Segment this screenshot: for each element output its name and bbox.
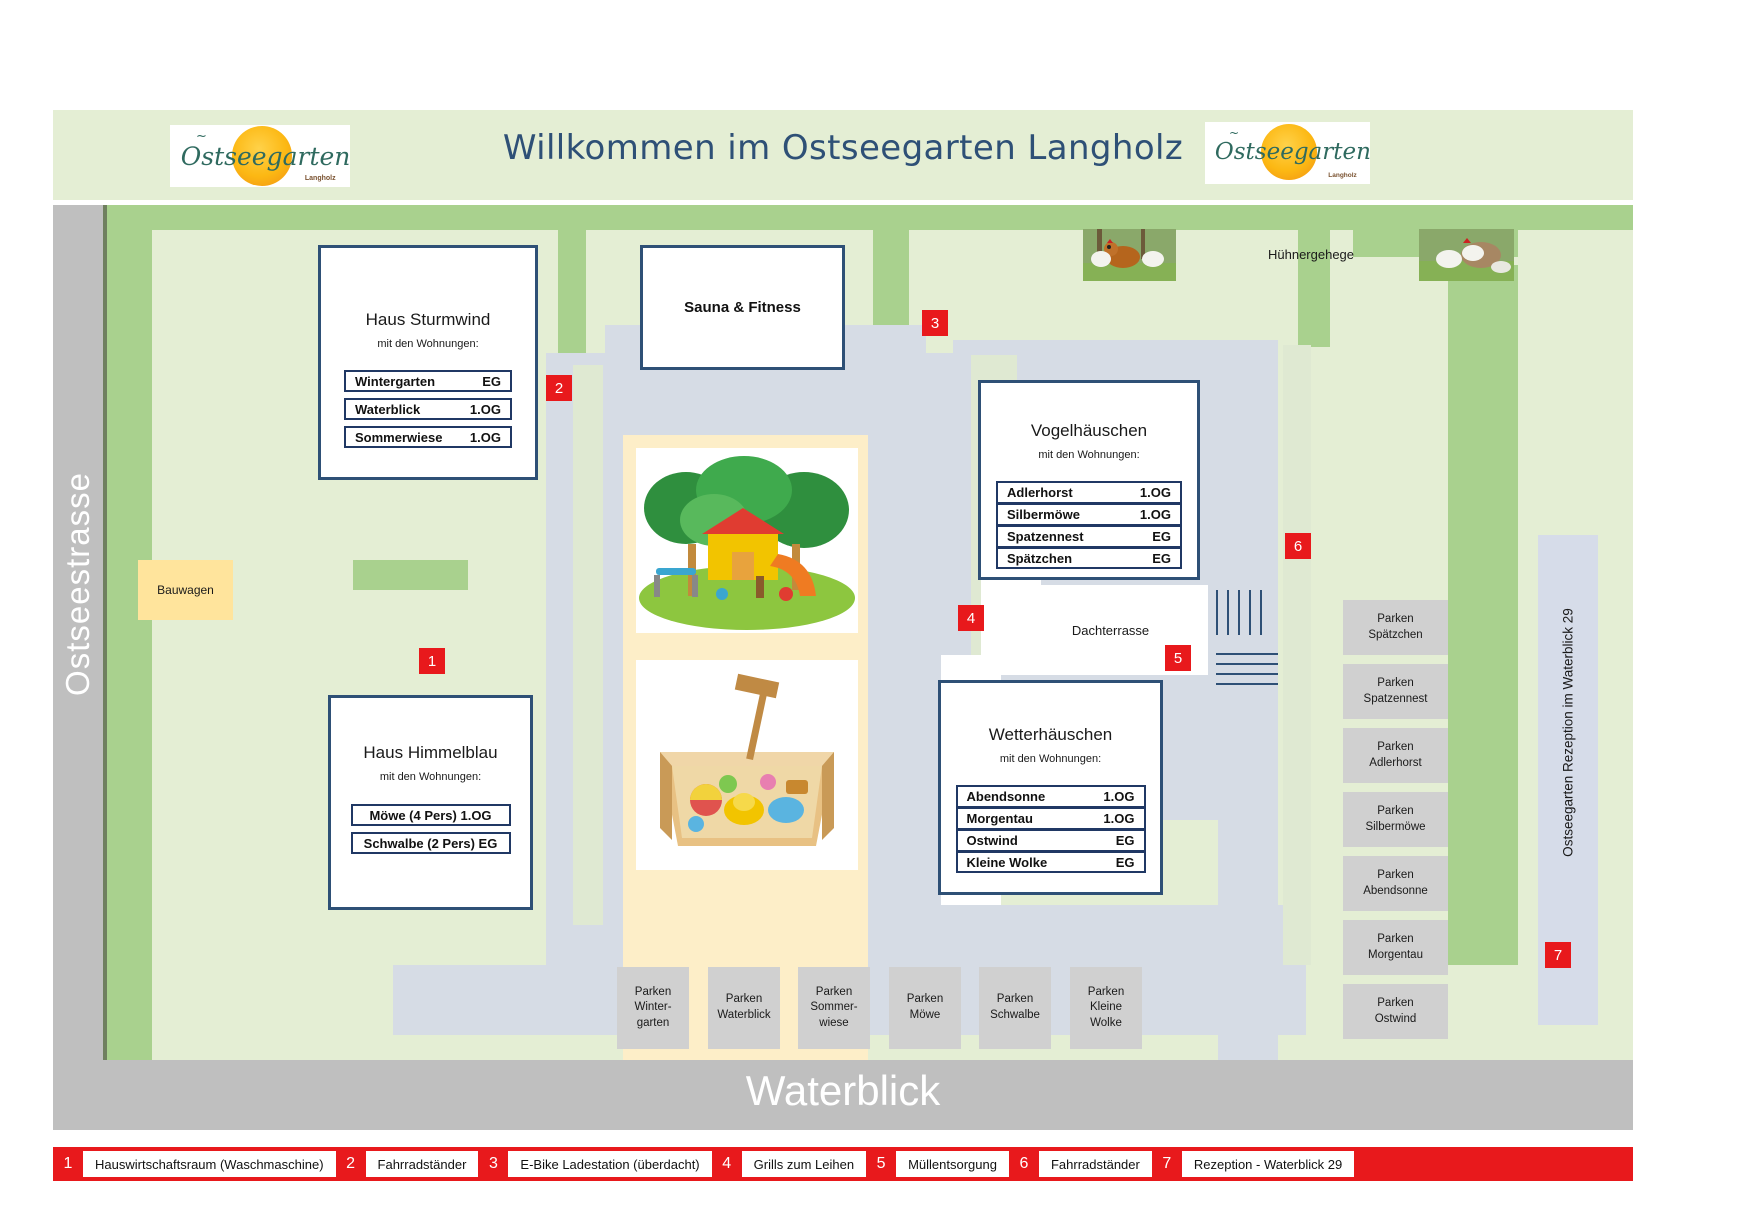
site-map: Ostseestrasse Haus Sturmwind [53,205,1633,1130]
legend-item-1[interactable]: Hauswirtschaftsraum (Waschmaschine) [83,1151,336,1177]
logo-right: ~ Ostseegarten Langholz [1205,122,1370,184]
apartment-floor: EG [482,374,501,389]
chicken-photo-left [1083,229,1176,281]
building-vogelhaeuschen[interactable]: Vogelhäuschen mit den Wohnungen: Adlerho… [978,380,1200,580]
apartment-row[interactable]: Morgentau 1.OG [956,807,1146,829]
site-map-page: ~ Ostseegarten Langholz Willkommen im Os… [0,0,1740,1231]
apartment-name: Spatzennest [1007,529,1084,544]
street-edge-line [103,205,107,1130]
parking-cell[interactable]: Parken Sommer- wiese [798,967,870,1049]
parking-cell[interactable]: Parken Spätzchen [1343,600,1448,655]
map-marker-7[interactable]: 7 [1545,942,1571,968]
legend-item-5[interactable]: Müllentsorgung [896,1151,1009,1177]
apartment-floor: 1.OG [1103,789,1134,804]
building-title: Haus Himmelblau [331,743,530,763]
chicken-photo-icon [1083,229,1176,281]
apartment-name: Sommerwiese [355,430,442,445]
building-sauna-fitness[interactable]: Sauna & Fitness [640,245,845,370]
apartment-floor: EG [1116,855,1135,870]
map-marker-2[interactable]: 2 [546,375,572,401]
chicken-photo-icon [1419,229,1514,281]
logo-bird-icon: ~ [1229,126,1239,140]
parking-cell[interactable]: Parken Abendsonne [1343,856,1448,911]
apartment-name: Morgentau [967,811,1033,826]
map-marker-5[interactable]: 5 [1165,645,1191,671]
apartment-row[interactable]: Ostwind EG [956,829,1146,851]
reception-strip-label: Ostseegarten Rezeption im Waterblick 29 [1561,533,1576,933]
logo-subtitle: Langholz [1328,172,1357,179]
hedge-strip [873,227,909,332]
apartment-name: Adlerhorst [1007,485,1073,500]
hedge-strip [1448,265,1518,965]
chicken-area-label: Hühnergehege [1268,247,1354,262]
page-header: ~ Ostseegarten Langholz Willkommen im Os… [53,110,1633,200]
legend-item-2[interactable]: Fahrradständer [366,1151,479,1177]
street-ostseestrasse-label: Ostseestrasse [59,349,97,819]
apartment-name: Schwalbe (2 Pers) EG [364,836,498,851]
building-haus-sturmwind[interactable]: Haus Sturmwind mit den Wohnungen: Winter… [318,245,538,480]
parking-cell[interactable]: Parken Adlerhorst [1343,728,1448,783]
building-title: Sauna & Fitness [643,248,842,367]
parking-cell[interactable]: Parken Kleine Wolke [1070,967,1142,1049]
playground-photo [636,448,858,633]
legend-item-4[interactable]: Grills zum Leihen [742,1151,866,1177]
apartment-floor: 1.OG [470,402,501,417]
apartment-row[interactable]: Sommerwiese 1.OG [344,426,512,448]
building-subtitle: mit den Wohnungen: [981,449,1197,461]
logo-left: ~ Ostseegarten Langholz [170,125,350,187]
apartment-row[interactable]: Kleine Wolke EG [956,851,1146,873]
apartment-row[interactable]: Wintergarten EG [344,370,512,392]
bauwagen-block: Bauwagen [138,560,233,620]
apartment-name: Kleine Wolke [967,855,1048,870]
street-waterblick-label: Waterblick [53,1067,1633,1115]
hedge-strip [558,227,586,362]
apartment-name: Möwe (4 Pers) 1.OG [369,808,491,823]
apartment-name: Spätzchen [1007,551,1072,566]
chicken-photo-right [1419,229,1514,281]
parking-cell[interactable]: Parken Spatzennest [1343,664,1448,719]
apartment-floor: 1.OG [1140,485,1171,500]
apartment-name: Waterblick [355,402,420,417]
fence-icon [1216,590,1276,645]
building-subtitle: mit den Wohnungen: [321,338,535,350]
apartment-name: Ostwind [967,833,1018,848]
legend-number-2: 2 [336,1147,366,1181]
sandbox-illustration-icon [636,660,858,870]
playground-illustration-icon [636,448,858,633]
apartment-name: Wintergarten [355,374,435,389]
legend-item-7[interactable]: Rezeption - Waterblick 29 [1182,1151,1354,1177]
fence-icon [1216,653,1278,693]
planting-strip [573,365,603,925]
page-title: Willkommen im Ostseegarten Langholz [383,128,1303,168]
apartment-row[interactable]: Möwe (4 Pers) 1.OG [351,804,511,826]
apartment-row[interactable]: Spatzennest EG [996,525,1182,547]
apartment-floor: 1.OG [470,430,501,445]
apartment-name: Abendsonne [967,789,1046,804]
parking-cell[interactable]: Parken Silbermöwe [1343,792,1448,847]
parking-cell[interactable]: Parken Winter- garten [617,967,689,1049]
building-title: Wetterhäuschen [941,725,1160,745]
apartment-row[interactable]: Schwalbe (2 Pers) EG [351,832,511,854]
building-wetterhaeuschen[interactable]: Wetterhäuschen mit den Wohnungen: Abends… [938,680,1163,895]
legend-number-4: 4 [712,1147,742,1181]
parking-cell[interactable]: Parken Möwe [889,967,961,1049]
legend-number-1: 1 [53,1147,83,1181]
building-subtitle: mit den Wohnungen: [331,771,530,783]
logo-wordmark: Ostseegarten [1215,139,1370,165]
parking-cell[interactable]: Parken Waterblick [708,967,780,1049]
legend-bar: 1 Hauswirtschaftsraum (Waschmaschine) 2 … [53,1147,1633,1181]
apartment-name: Silbermöwe [1007,507,1080,522]
legend-number-6: 6 [1009,1147,1039,1181]
building-haus-himmelblau[interactable]: Haus Himmelblau mit den Wohnungen: Möwe … [328,695,533,910]
legend-number-5: 5 [866,1147,896,1181]
sandbox-photo [636,660,858,870]
map-marker-4[interactable]: 4 [958,605,984,631]
logo-wordmark: Ostseegarten [181,142,350,171]
apartment-row[interactable]: Abendsonne 1.OG [956,785,1146,807]
hedge-strip [1298,227,1330,347]
parking-cell[interactable]: Parken Ostwind [1343,984,1448,1039]
legend-number-3: 3 [478,1147,508,1181]
apartment-floor: EG [1152,529,1171,544]
map-marker-1[interactable]: 1 [419,648,445,674]
legend-number-7: 7 [1152,1147,1182,1181]
parking-cell[interactable]: Parken Morgentau [1343,920,1448,975]
planting-strip [1283,345,1311,965]
logo-subtitle: Langholz [305,175,336,182]
driveway-paving [393,965,573,1035]
hedge-strip [353,560,468,590]
parking-cell[interactable]: Parken Schwalbe [979,967,1051,1049]
legend-item-6[interactable]: Fahrradständer [1039,1151,1152,1177]
apartment-floor: 1.OG [1103,811,1134,826]
apartment-row[interactable]: Adlerhorst 1.OG [996,481,1182,503]
street-waterblick: Waterblick [53,1060,1633,1130]
apartment-floor: 1.OG [1140,507,1171,522]
apartment-row[interactable]: Spätzchen EG [996,547,1182,569]
apartment-floor: EG [1152,551,1171,566]
street-ostseestrasse: Ostseestrasse [53,205,103,1130]
map-marker-3[interactable]: 3 [922,310,948,336]
building-subtitle: mit den Wohnungen: [941,753,1160,765]
apartment-row[interactable]: Waterblick 1.OG [344,398,512,420]
apartment-floor: EG [1116,833,1135,848]
map-marker-6[interactable]: 6 [1285,533,1311,559]
building-title: Haus Sturmwind [321,310,535,330]
apartment-row[interactable]: Silbermöwe 1.OG [996,503,1182,525]
legend-item-3[interactable]: E-Bike Ladestation (überdacht) [508,1151,711,1177]
building-title: Vogelhäuschen [981,421,1197,441]
